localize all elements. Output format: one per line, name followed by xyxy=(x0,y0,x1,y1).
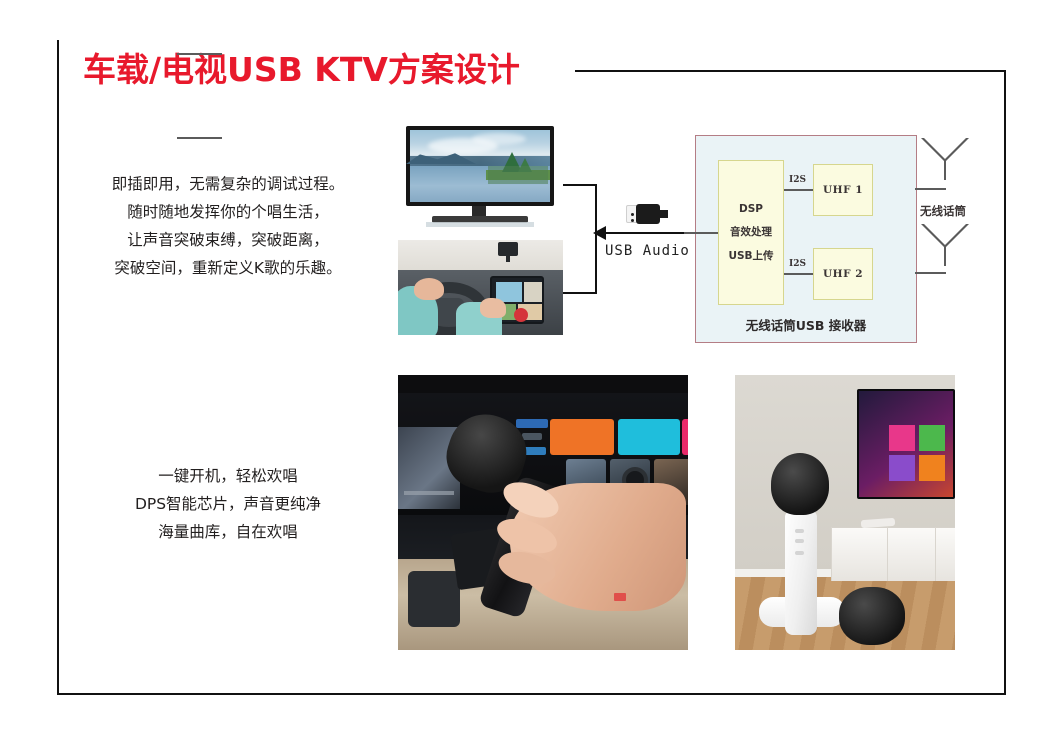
copy-line: 让声音突破束缚，突破距离， xyxy=(78,226,378,254)
tv-stand-glass xyxy=(426,222,534,227)
driver-hand xyxy=(414,278,444,300)
dsp-to-uhf2-wire xyxy=(784,273,813,275)
frame-top-edge xyxy=(575,70,1006,72)
water-reflection xyxy=(488,166,548,184)
antenna-2-icon xyxy=(921,224,969,266)
microphone-button xyxy=(795,539,804,543)
living-room-photo xyxy=(735,375,955,650)
bracket-bottom-arm xyxy=(563,292,597,294)
antenna-stem xyxy=(944,246,946,266)
diagram-caption: 无线话筒USB 接收器 xyxy=(695,315,917,334)
antenna-1-icon xyxy=(921,138,969,180)
antenna-triangle-inner xyxy=(924,138,966,159)
antenna-2-lead xyxy=(915,272,946,274)
uhf1-block: UHF 1 xyxy=(813,164,873,216)
air-vent xyxy=(408,571,460,627)
usb-plug-icon xyxy=(626,202,670,226)
uhf2-antenna-wire xyxy=(177,137,222,139)
wall-tv xyxy=(857,389,955,499)
wireless-microphone-label: 无线话筒 xyxy=(920,203,966,219)
usb-audio-label: USB Audio xyxy=(605,243,690,259)
display-app-tile xyxy=(618,419,680,455)
i2s-label-uhf1: I2S xyxy=(789,175,806,185)
uhf2-label: UHF 2 xyxy=(823,268,863,280)
slide-canvas: 车载/电视USB KTV方案设计 即插即用，无需复杂的调试过程。 随时随地发挥你… xyxy=(0,0,1061,749)
cloud-shape xyxy=(472,133,526,145)
tv-screen xyxy=(410,130,550,202)
screen-record-dot xyxy=(514,308,528,322)
dsp-line: USB上传 xyxy=(728,248,773,263)
cabinet-seam xyxy=(935,527,936,581)
antenna-1-lead xyxy=(915,188,946,190)
dsp-block: DSP 音效处理 USB上传 xyxy=(718,160,784,305)
uhf2-block: UHF 2 xyxy=(813,248,873,300)
diagram-usb-input-wire xyxy=(684,232,718,234)
tv-app-tile xyxy=(889,425,915,451)
usb-pin-dot xyxy=(631,213,634,216)
copy-line: DPS智能芯片，声音更纯净 xyxy=(78,490,378,518)
windshield xyxy=(398,240,563,274)
uhf1-antenna-wire xyxy=(177,53,222,55)
dashcam-mount xyxy=(506,254,510,262)
copy-line: 海量曲库，自在欢唱 xyxy=(78,518,378,546)
car-interior-photo xyxy=(398,240,563,335)
feature-paragraph-top: 即插即用，无需复杂的调试过程。 随时随地发挥你的个唱生活， 让声音突破束缚，突破… xyxy=(78,170,378,282)
mic-in-car-photo xyxy=(398,375,688,650)
frame-bottom-edge xyxy=(57,693,1006,695)
antenna-triangle-inner xyxy=(924,224,966,245)
display-nav-badge xyxy=(516,419,548,428)
uhf1-label: UHF 1 xyxy=(823,184,863,196)
passenger-hand xyxy=(480,298,506,318)
tv-bezel xyxy=(406,126,554,206)
cabinet-seam xyxy=(887,527,888,581)
tv-app-tile xyxy=(889,455,915,481)
microphone-foam-head-standing xyxy=(771,453,829,515)
microphone-button xyxy=(795,529,804,533)
feature-paragraph-bottom: 一键开机，轻松欢唱 DPS智能芯片，声音更纯净 海量曲库，自在欢唱 xyxy=(78,462,378,546)
tv-photo xyxy=(398,122,563,230)
microphone-foam-head-lying xyxy=(839,587,905,645)
bracket-top-arm xyxy=(563,184,597,186)
media-cabinet xyxy=(831,527,955,581)
dsp-to-uhf1-wire xyxy=(784,189,813,191)
antenna-stem xyxy=(944,160,946,180)
microphone-button xyxy=(795,551,804,555)
tv-app-tile xyxy=(919,425,945,451)
copy-line: 随时随地发挥你的个唱生活， xyxy=(78,198,378,226)
display-progress-bar xyxy=(404,491,454,495)
usb-audio-arrow-head xyxy=(593,226,606,240)
screen-tile xyxy=(524,282,542,302)
frame-right-edge xyxy=(1004,70,1006,695)
display-nav-badge xyxy=(522,433,542,440)
usb-plug-tip xyxy=(659,210,668,218)
dsp-title: DSP xyxy=(739,203,763,215)
i2s-label-uhf2: I2S xyxy=(789,259,806,269)
dsp-line: 音效处理 xyxy=(730,224,772,239)
display-app-tile xyxy=(550,419,614,455)
display-app-tile xyxy=(682,419,688,455)
usb-receiver-diagram: DSP 音效处理 USB上传 UHF 1 UHF 2 I2S I2S xyxy=(695,135,917,343)
frame-left-edge xyxy=(57,40,59,695)
usb-pin-dot xyxy=(631,219,634,222)
usb-plug-shell xyxy=(636,204,660,224)
page-title: 车载/电视USB KTV方案设计 xyxy=(83,43,520,91)
tv-app-tile xyxy=(919,455,945,481)
microphone-brand-mark xyxy=(614,593,626,601)
copy-line: 即插即用，无需复杂的调试过程。 xyxy=(78,170,378,198)
cabinet-seam xyxy=(831,527,832,581)
copy-line: 一键开机，轻松欢唱 xyxy=(78,462,378,490)
copy-line: 突破空间，重新定义K歌的乐趣。 xyxy=(78,254,378,282)
